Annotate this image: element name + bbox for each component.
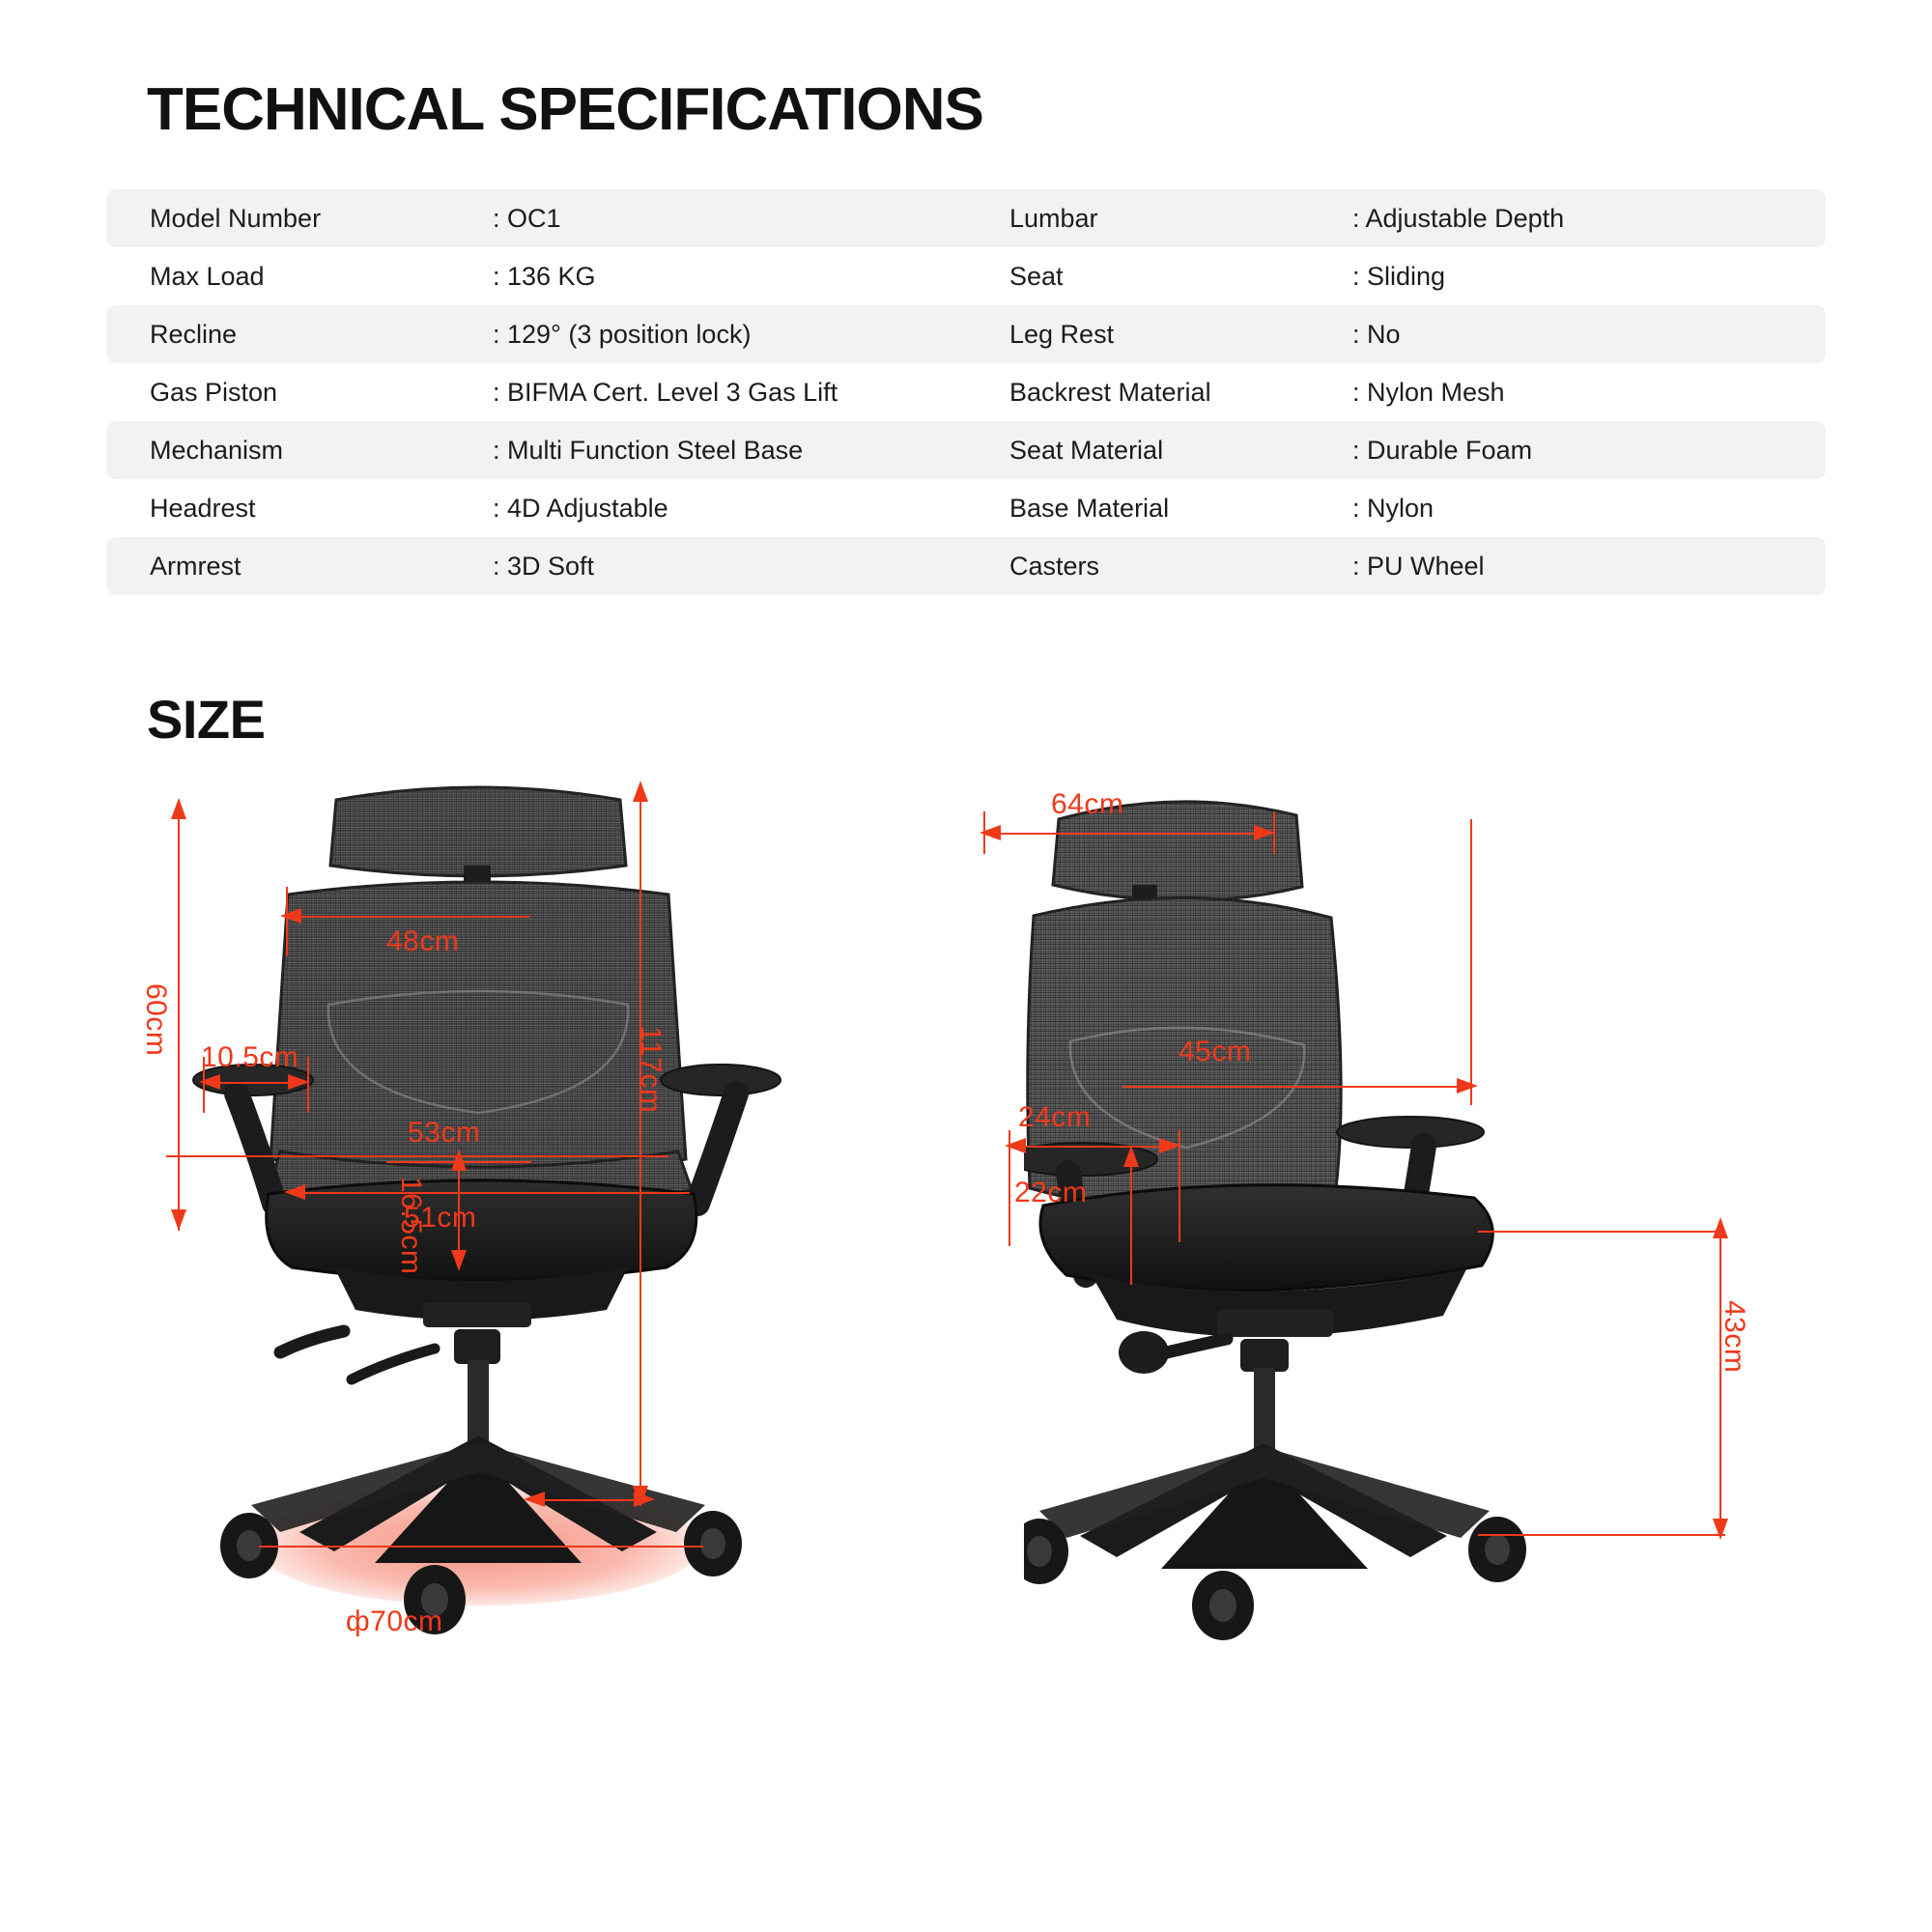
spec-pair-left: Armrest : 3D Soft [106,552,966,582]
arrow-right-icon [1457,1078,1478,1094]
spec-key: Max Load [106,262,493,292]
spec-key: Backrest Material [966,378,1352,408]
spec-pair-right: Seat Material : Durable Foam [966,436,1826,466]
spec-key: Seat [966,262,1352,292]
spec-key: Casters [966,552,1352,582]
dimension-line-backrest-height [178,815,180,1231]
arrow-up-icon [171,798,186,819]
dimension-tick [1273,811,1275,854]
spec-key: Base Material [966,494,1352,524]
table-row: Gas Piston : BIFMA Cert. Level 3 Gas Lif… [106,363,1826,421]
dimension-label-seat-area-width: 53cm [408,1117,480,1150]
arrow-left-icon [284,1184,305,1200]
arrow-right-icon [634,1492,655,1507]
dimension-line-backrest-width [288,916,529,918]
arrow-right-icon [1159,1138,1180,1153]
arrow-up-icon [451,1150,467,1171]
dimension-tick [1478,1534,1725,1536]
dimension-tick [1179,1130,1180,1242]
page-title-specifications: TECHNICAL SPECIFICATIONS [147,75,983,144]
spec-key: Recline [106,320,493,350]
dimension-label-total-height: 117cm [634,1026,667,1113]
spec-key: Model Number [106,204,493,234]
arrow-left-icon [524,1492,545,1507]
spec-pair-right: Casters : PU Wheel [966,552,1826,582]
dimension-line-overall-width [987,833,1269,835]
dimension-label-armrest-depth: 24cm [1018,1101,1091,1134]
dimension-line-armrest-height [1130,1159,1132,1285]
dimension-label-seat-depth: 45cm [1179,1036,1251,1068]
spec-sheet-page: TECHNICAL SPECIFICATIONS Model Number : … [0,0,1932,1932]
dimension-label-base-diameter: ф70cm [346,1605,443,1638]
spec-value: : Nylon Mesh [1352,378,1826,408]
dimension-baseline [531,1499,649,1501]
spec-pair-left: Headrest : 4D Adjustable [106,494,966,524]
spec-value: : Multi Function Steel Base [493,436,966,466]
spec-pair-left: Model Number : OC1 [106,204,966,234]
spec-key: Lumbar [966,204,1352,234]
spec-pair-right: Leg Rest : No [966,320,1826,350]
dimension-tick [983,811,985,854]
dimension-label-overall-width: 64cm [1051,788,1123,821]
dimension-tick [307,1057,309,1113]
spec-key: Seat Material [966,436,1352,466]
spec-key: Headrest [106,494,493,524]
dimension-label-armrest-height: 22cm [1014,1177,1087,1209]
spec-value: : OC1 [493,204,966,234]
arrow-right-icon [288,1074,309,1090]
dimension-label-backrest-width: 48cm [386,925,459,958]
dimension-line-seat-width [292,1192,690,1194]
dimension-tick [1470,819,1472,1105]
spec-pair-left: Gas Piston : BIFMA Cert. Level 3 Gas Lif… [106,378,966,408]
arrow-down-icon [451,1250,467,1271]
dimension-line-armrest-depth [1012,1146,1175,1148]
dimension-line-seat-area-width [166,1155,668,1157]
chair-front-illustration [145,773,879,1787]
arrow-up-icon [1123,1146,1139,1167]
spec-value: : Nylon [1352,494,1826,524]
spec-key: Armrest [106,552,493,582]
dimension-label-backrest-height: 60cm [139,983,172,1056]
dimension-tick [1009,1130,1010,1246]
table-row: Headrest : 4D Adjustable Base Material :… [106,479,1826,537]
dimension-tick [286,887,288,956]
dimension-label-seat-height: 43cm [1718,1300,1750,1373]
spec-pair-left: Recline : 129° (3 position lock) [106,320,966,350]
spec-value: : 3D Soft [493,552,966,582]
table-row: Recline : 129° (3 position lock) Leg Res… [106,305,1826,363]
arrow-up-icon [633,781,648,802]
spec-value: : PU Wheel [1352,552,1826,582]
table-row: Max Load : 136 KG Seat : Sliding [106,247,1826,305]
section-title-size: SIZE [147,688,265,751]
spec-pair-right: Base Material : Nylon [966,494,1826,524]
arrow-right-icon [1254,825,1275,840]
spec-pair-right: Seat : Sliding [966,262,1826,292]
spec-pair-left: Mechanism : Multi Function Steel Base [106,436,966,466]
dimension-line-total-height [639,798,641,1505]
spec-value: : BIFMA Cert. Level 3 Gas Lift [493,378,966,408]
arrow-down-icon [171,1209,186,1231]
spec-value: : 136 KG [493,262,966,292]
spec-pair-right: Lumbar : Adjustable Depth [966,204,1826,234]
spec-value: : 4D Adjustable [493,494,966,524]
spec-value: : No [1352,320,1826,350]
size-diagram-area: 48cm 60cm 117cm 10.5cm 53cm [0,773,1932,1835]
spec-pair-left: Max Load : 136 KG [106,262,966,292]
arrow-down-icon [1713,1519,1728,1540]
chair-angled-view: 64cm 45cm 24cm 22cm 43cm [1024,773,1826,1787]
arrow-left-icon [280,908,301,923]
spec-key: Leg Rest [966,320,1352,350]
dimension-label-armrest-width: 10.5cm [201,1041,298,1074]
spec-value: : Sliding [1352,262,1826,292]
spec-key: Mechanism [106,436,493,466]
table-row: Model Number : OC1 Lumbar : Adjustable D… [106,189,1826,247]
spec-value: : 129° (3 position lock) [493,320,966,350]
spec-value: : Durable Foam [1352,436,1826,466]
chair-front-view: 48cm 60cm 117cm 10.5cm 53cm [145,773,879,1787]
arrow-up-icon [1713,1217,1728,1238]
dimension-label-seat-width: 51cm [404,1202,476,1235]
table-row: Mechanism : Multi Function Steel Base Se… [106,421,1826,479]
spec-pair-right: Backrest Material : Nylon Mesh [966,378,1826,408]
table-row: Armrest : 3D Soft Casters : PU Wheel [106,537,1826,595]
dimension-line-base-diameter [259,1546,703,1548]
dimension-tick [386,1161,531,1163]
dimension-tick [1478,1231,1725,1233]
spec-value: : Adjustable Depth [1352,204,1826,234]
specifications-table: Model Number : OC1 Lumbar : Adjustable D… [106,189,1826,595]
dimension-line-seat-depth [1122,1086,1472,1088]
chair-angled-illustration [1024,773,1826,1787]
dimension-line-seat-height [1719,1233,1721,1536]
spec-key: Gas Piston [106,378,493,408]
